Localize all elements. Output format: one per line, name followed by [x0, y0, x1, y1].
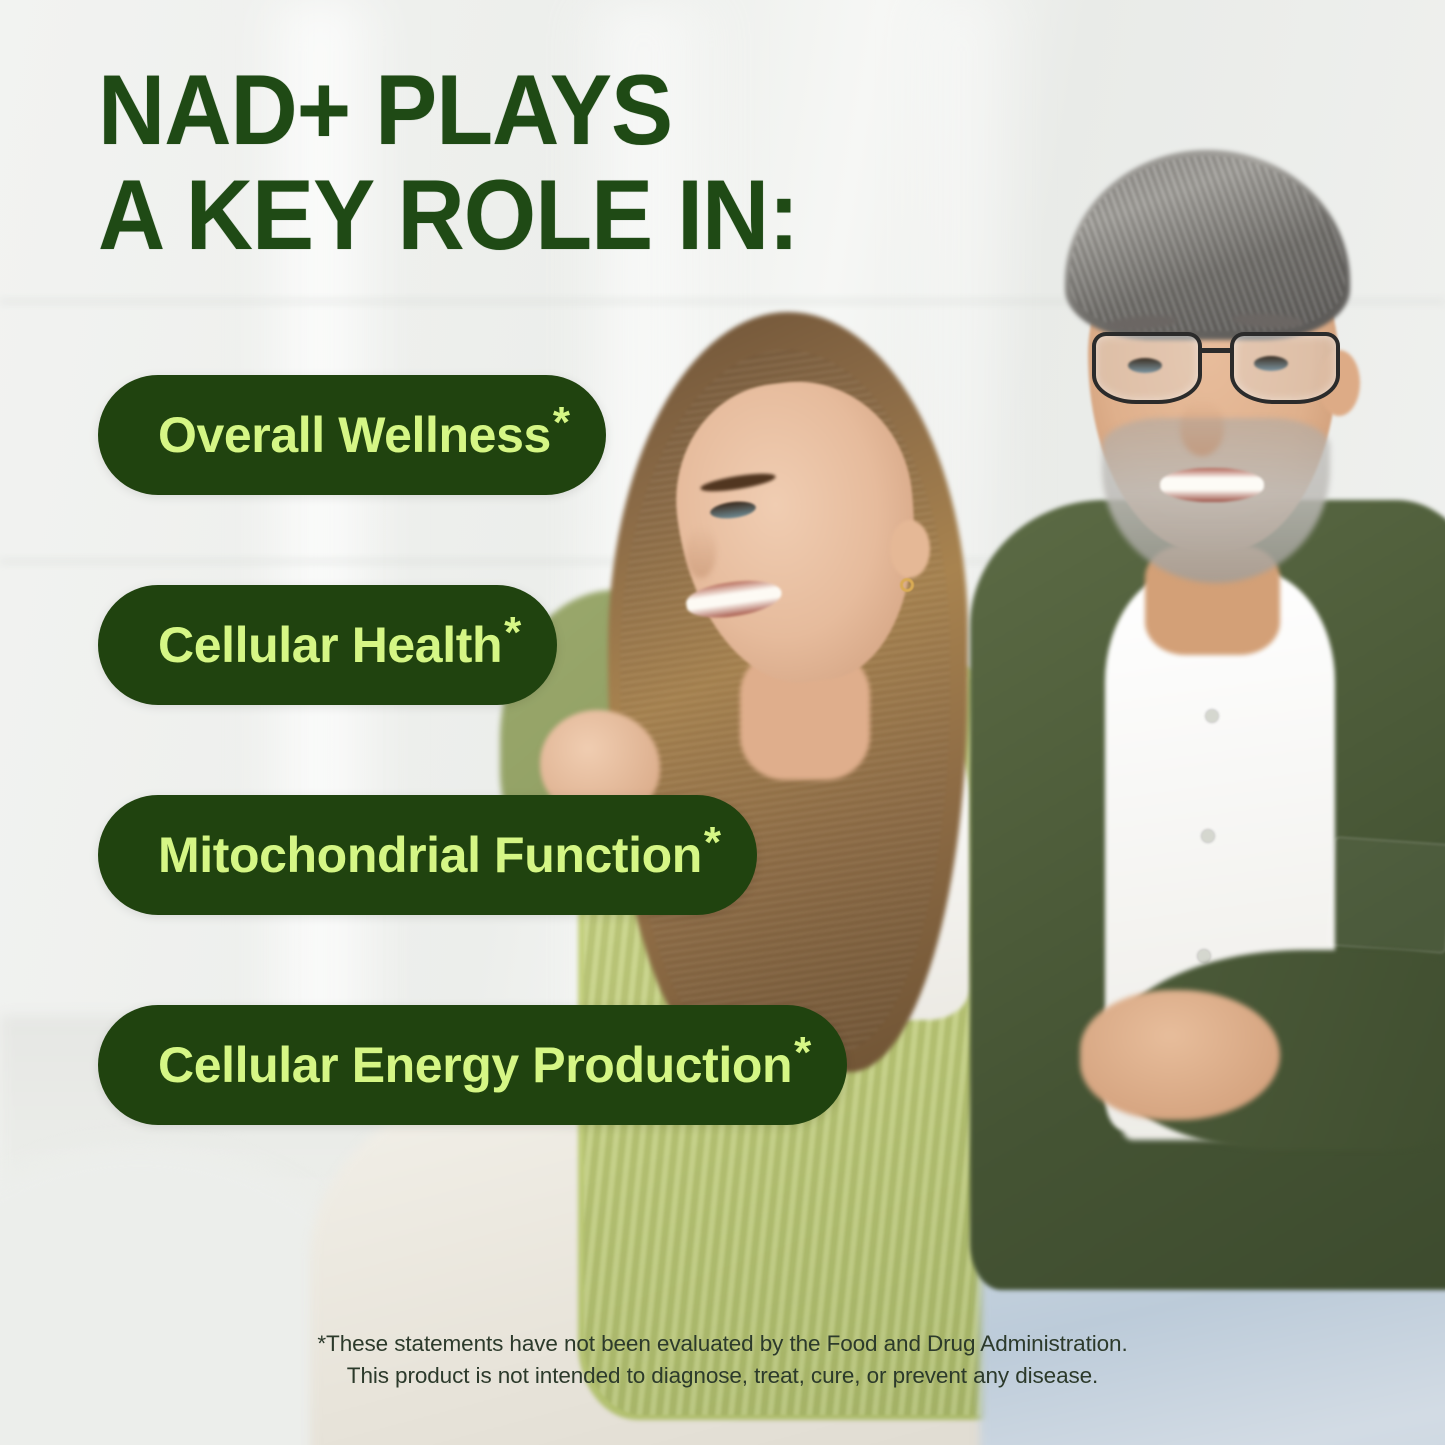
benefit-list: Overall Wellness * Cellular Health * Mit… — [98, 375, 847, 1125]
man-shirt-snap — [1198, 950, 1210, 962]
man-shirt-pocket — [1326, 836, 1445, 954]
benefit-label: Cellular Health — [158, 620, 502, 670]
woman-ear — [890, 520, 930, 578]
benefit-pill-mitochondrial-function: Mitochondrial Function * — [98, 795, 757, 915]
man-hand — [1080, 990, 1280, 1120]
fda-disclaimer: *These statements have not been evaluate… — [0, 1328, 1445, 1393]
footnote-marker-icon: * — [704, 821, 721, 865]
woman-earring — [900, 578, 914, 592]
footnote-marker-icon: * — [794, 1031, 811, 1075]
man-smile — [1160, 468, 1264, 502]
man-nose — [1180, 400, 1224, 456]
benefit-label: Mitochondrial Function — [158, 830, 702, 880]
benefit-pill-cellular-health: Cellular Health * — [98, 585, 557, 705]
footnote-marker-icon: * — [553, 401, 570, 445]
man-figure — [1010, 150, 1445, 1445]
benefit-pill-overall-wellness: Overall Wellness * — [98, 375, 606, 495]
benefit-label: Cellular Energy Production — [158, 1040, 792, 1090]
page-title: NAD+ PLAYS A KEY ROLE IN: — [98, 58, 798, 268]
benefit-pill-cellular-energy-production: Cellular Energy Production * — [98, 1005, 847, 1125]
man-hair-texture — [1070, 156, 1345, 331]
man-eye — [1128, 358, 1162, 373]
man-shirt-snap — [1202, 830, 1214, 842]
glasses-right-lens — [1230, 332, 1340, 404]
footnote-marker-icon: * — [504, 611, 521, 655]
man-shirt-snap — [1206, 710, 1218, 722]
man-eye — [1254, 356, 1288, 371]
glasses-bridge — [1200, 348, 1234, 353]
promo-poster: NAD+ PLAYS A KEY ROLE IN: Overall Wellne… — [0, 0, 1445, 1445]
benefit-label: Overall Wellness — [158, 410, 551, 460]
